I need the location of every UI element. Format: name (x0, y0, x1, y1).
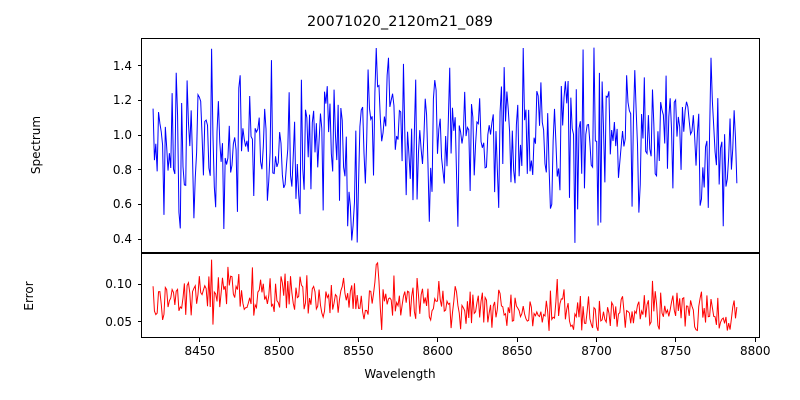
x-tick-label: 8650 (502, 344, 533, 358)
x-tick-label: 8800 (740, 344, 771, 358)
y-tick-label-spectrum: 1.0 (70, 128, 132, 142)
error-plot-area (142, 254, 759, 337)
y-tickmark-spectrum (138, 65, 142, 66)
x-tick-label: 8600 (423, 344, 454, 358)
x-tick-label: 8500 (264, 344, 295, 358)
spectrum-trace (153, 48, 737, 243)
x-tick-label: 8450 (184, 344, 215, 358)
x-tick-label: 8750 (661, 344, 692, 358)
y-tickmark-spectrum (138, 135, 142, 136)
error-panel (141, 253, 760, 338)
x-tickmark (199, 338, 200, 342)
x-tick-label: 8550 (343, 344, 374, 358)
y-tickmark-spectrum (138, 204, 142, 205)
figure-canvas: 20071020_2120m21_089 0.40.60.81.01.21.40… (0, 0, 800, 400)
y-axis-label-error: Error (22, 256, 36, 336)
x-tick-label: 8700 (581, 344, 612, 358)
x-tickmark (358, 338, 359, 342)
y-tick-label-spectrum: 1.2 (70, 93, 132, 107)
y-tick-label-spectrum: 1.4 (70, 59, 132, 73)
spectrum-plot-area (142, 39, 759, 252)
y-tick-label-spectrum: 0.6 (70, 197, 132, 211)
y-tickmark-error (138, 284, 142, 285)
spectrum-panel (141, 38, 760, 253)
page-title: 20071020_2120m21_089 (0, 14, 800, 30)
x-tickmark (675, 338, 676, 342)
y-tickmark-error (138, 321, 142, 322)
y-tickmark-spectrum (138, 239, 142, 240)
y-tick-label-spectrum: 0.8 (70, 163, 132, 177)
y-tick-label-error: 0.05 (70, 315, 132, 329)
x-tickmark (437, 338, 438, 342)
error-trace (153, 260, 737, 331)
x-axis-label: Wavelength (0, 367, 800, 381)
y-tick-label-spectrum: 0.4 (70, 232, 132, 246)
x-tickmark (596, 338, 597, 342)
x-tickmark (517, 338, 518, 342)
x-tickmark (755, 338, 756, 342)
y-axis-label-spectrum: Spectrum (29, 85, 43, 205)
y-tickmark-spectrum (138, 169, 142, 170)
x-tickmark (279, 338, 280, 342)
y-tickmark-spectrum (138, 100, 142, 101)
y-tick-label-error: 0.10 (70, 277, 132, 291)
